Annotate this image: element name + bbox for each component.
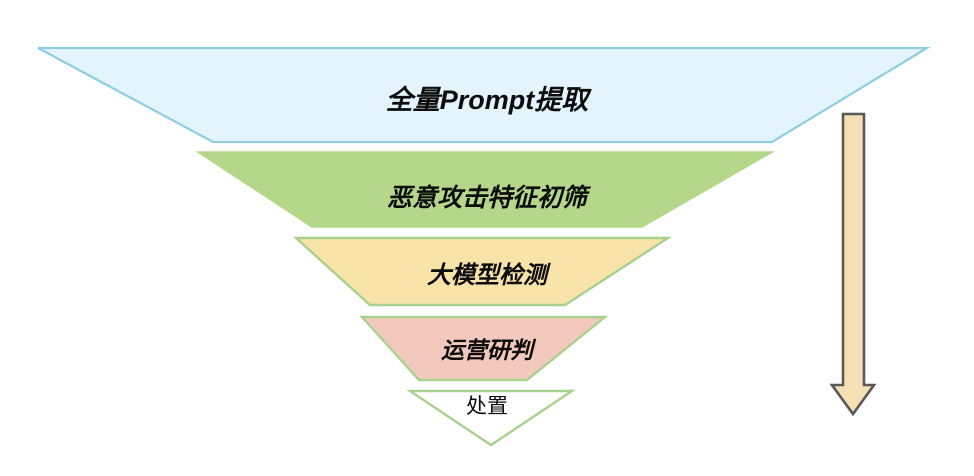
downward-flow-arrow-icon <box>832 114 874 414</box>
stage-shape-large-model-detection[interactable] <box>296 238 668 305</box>
funnel-shapes <box>0 0 974 476</box>
stage-shape-disposal[interactable] <box>410 391 572 445</box>
stage-shape-malicious-attack-prescreen[interactable] <box>198 152 772 227</box>
stage-shape-full-prompt-extraction[interactable] <box>38 48 927 142</box>
stage-shape-operations-judgement[interactable] <box>362 317 605 380</box>
funnel-diagram-canvas: 全量Prompt提取 恶意攻击特征初筛 大模型检测 运营研判 处置 <box>0 0 974 476</box>
